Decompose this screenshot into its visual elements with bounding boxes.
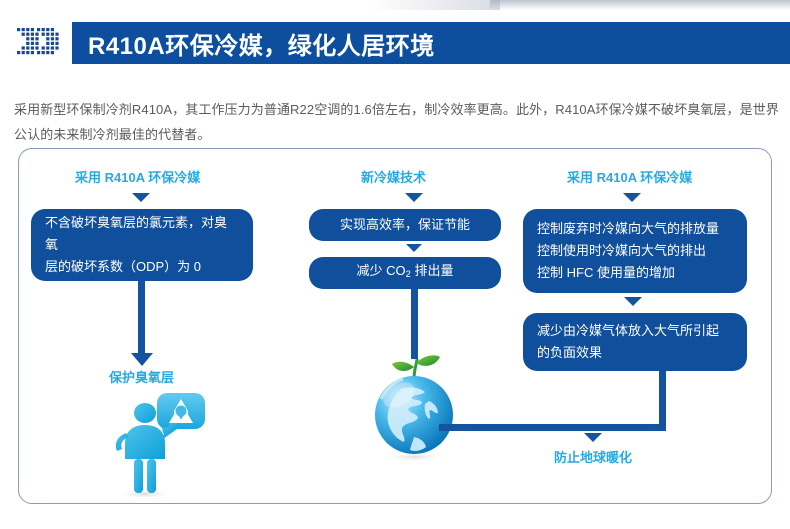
column-3-box-2: 减少由冷媒气体放入大气所引起 的负面效果: [523, 313, 747, 371]
column-1-box-1: 不含破坏臭氧层的氯元素，对臭氧 层的破坏系数（ODP）为 0: [31, 209, 253, 281]
title-bar: R410A环保冷媒，绿化人居环境: [72, 22, 790, 64]
column-1-box-1-line-1: 不含破坏臭氧层的氯元素，对臭氧: [45, 212, 239, 256]
connector-line-c3-down: [659, 371, 666, 431]
column-2-heading: 新冷媒技术: [361, 167, 426, 186]
column-3-box-1: 控制废弃时冷媒向大气的排放量 控制使用时冷媒向大气的排出 控制 HFC 使用量的…: [523, 209, 747, 293]
column-3-box-1-line-2: 控制使用时冷媒向大气的排出: [537, 240, 733, 262]
connector-line-c1: [138, 281, 145, 355]
column-1-heading: 采用 R410A 环保冷媒: [75, 167, 200, 186]
column-1-outcome-label: 保护臭氧层: [109, 367, 174, 386]
page-header: R410A环保冷媒，绿化人居环境: [0, 22, 790, 64]
column-2-box-2: 减少 CO2 排出量: [309, 257, 501, 289]
arrow-down-icon-c3-mid: [624, 297, 642, 306]
arrow-down-icon-c3-outcome: [584, 433, 602, 442]
column-1-box-1-line-2: 层的破坏系数（ODP）为 0: [45, 256, 239, 278]
arrow-down-icon-c1-outcome: [131, 353, 153, 366]
column-2-box-2-label: 减少 CO2 排出量: [357, 263, 454, 278]
arrow-down-icon-c2-head: [405, 193, 423, 202]
column-3-box-2-line-2: 的负面效果: [537, 342, 733, 364]
intro-paragraph: 采用新型环保制冷剂R410A，其工作压力为普通R22空调的1.6倍左右，制冷效率…: [14, 97, 786, 147]
arrow-down-icon-c1-head: [132, 193, 150, 202]
top-shadow-band: [490, 0, 790, 10]
arrow-down-icon-c3-head: [623, 193, 641, 202]
connector-line-globe-to-c3: [439, 424, 666, 431]
column-2-box-1: 实现高效率，保证节能: [309, 209, 501, 241]
arrow-down-icon-c2-mid: [406, 244, 422, 252]
column-3-box-1-line-3: 控制 HFC 使用量的增加: [537, 262, 733, 284]
page-title: R410A环保冷媒，绿化人居环境: [72, 26, 435, 61]
dotted-double-chevron-logo-icon: [16, 26, 68, 60]
diagram-container: 采用 R410A 环保冷媒 不含破坏臭氧层的氯元素，对臭氧 层的破坏系数（ODP…: [18, 148, 772, 504]
person-recycle-icon: [103, 389, 209, 501]
column-3-box-1-line-1: 控制废弃时冷媒向大气的排放量: [537, 218, 733, 240]
column-3-outcome-label: 防止地球暖化: [554, 447, 632, 466]
column-2-box-1-line-1: 实现高效率，保证节能: [323, 214, 487, 236]
column-3-heading: 采用 R410A 环保冷媒: [567, 167, 692, 186]
column-3-box-2-line-1: 减少由冷媒气体放入大气所引起: [537, 320, 733, 342]
globe-with-sprout-icon: [359, 345, 469, 463]
